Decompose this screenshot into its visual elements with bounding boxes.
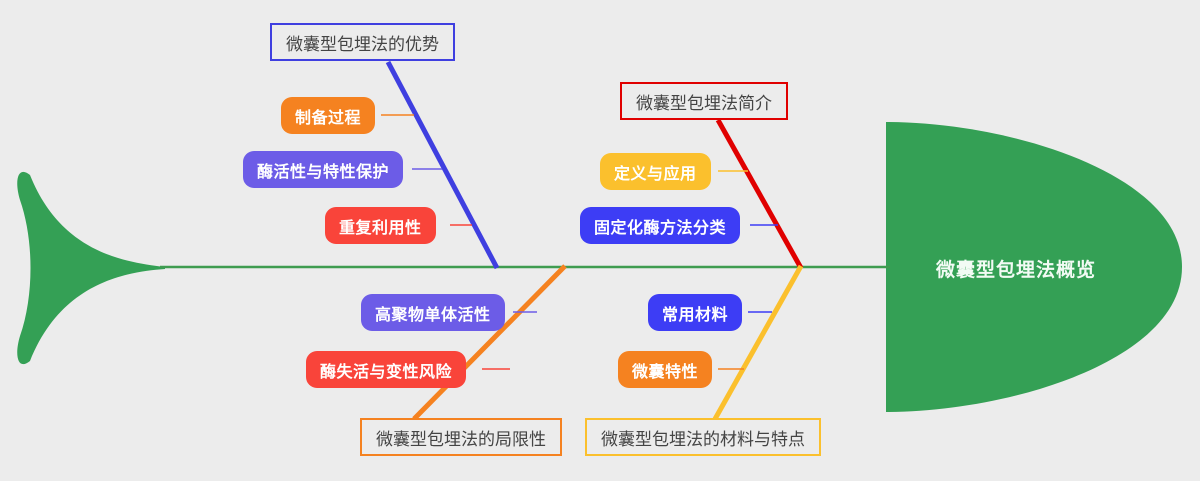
sub-cause-enzyme-denaturation-risk[interactable]: 酶失活与变性风险 — [306, 351, 466, 388]
category-box-materials[interactable]: 微囊型包埋法的材料与特点 — [585, 418, 821, 456]
bone-introduction — [718, 120, 801, 268]
category-box-advantages[interactable]: 微囊型包埋法的优势 — [270, 23, 455, 61]
fish-tail — [17, 172, 165, 364]
sub-cause-common-materials[interactable]: 常用材料 — [648, 294, 742, 331]
category-box-introduction[interactable]: 微囊型包埋法简介 — [620, 82, 788, 120]
sub-cause-reusability[interactable]: 重复利用性 — [325, 207, 436, 244]
fish-head-label: 微囊型包埋法概览 — [936, 255, 1096, 282]
sub-cause-polymer-monomer-activity[interactable]: 高聚物单体活性 — [361, 294, 505, 331]
sub-cause-microcapsule-properties[interactable]: 微囊特性 — [618, 351, 712, 388]
sub-cause-enzyme-activity-protection[interactable]: 酶活性与特性保护 — [243, 151, 403, 188]
sub-cause-immobilization-classification[interactable]: 固定化酶方法分类 — [580, 207, 740, 244]
bone-materials — [715, 266, 801, 419]
bone-limitations — [414, 266, 565, 419]
sub-cause-definition-application[interactable]: 定义与应用 — [600, 153, 711, 190]
category-box-limitations[interactable]: 微囊型包埋法的局限性 — [360, 418, 562, 456]
sub-cause-preparation-process[interactable]: 制备过程 — [281, 97, 375, 134]
